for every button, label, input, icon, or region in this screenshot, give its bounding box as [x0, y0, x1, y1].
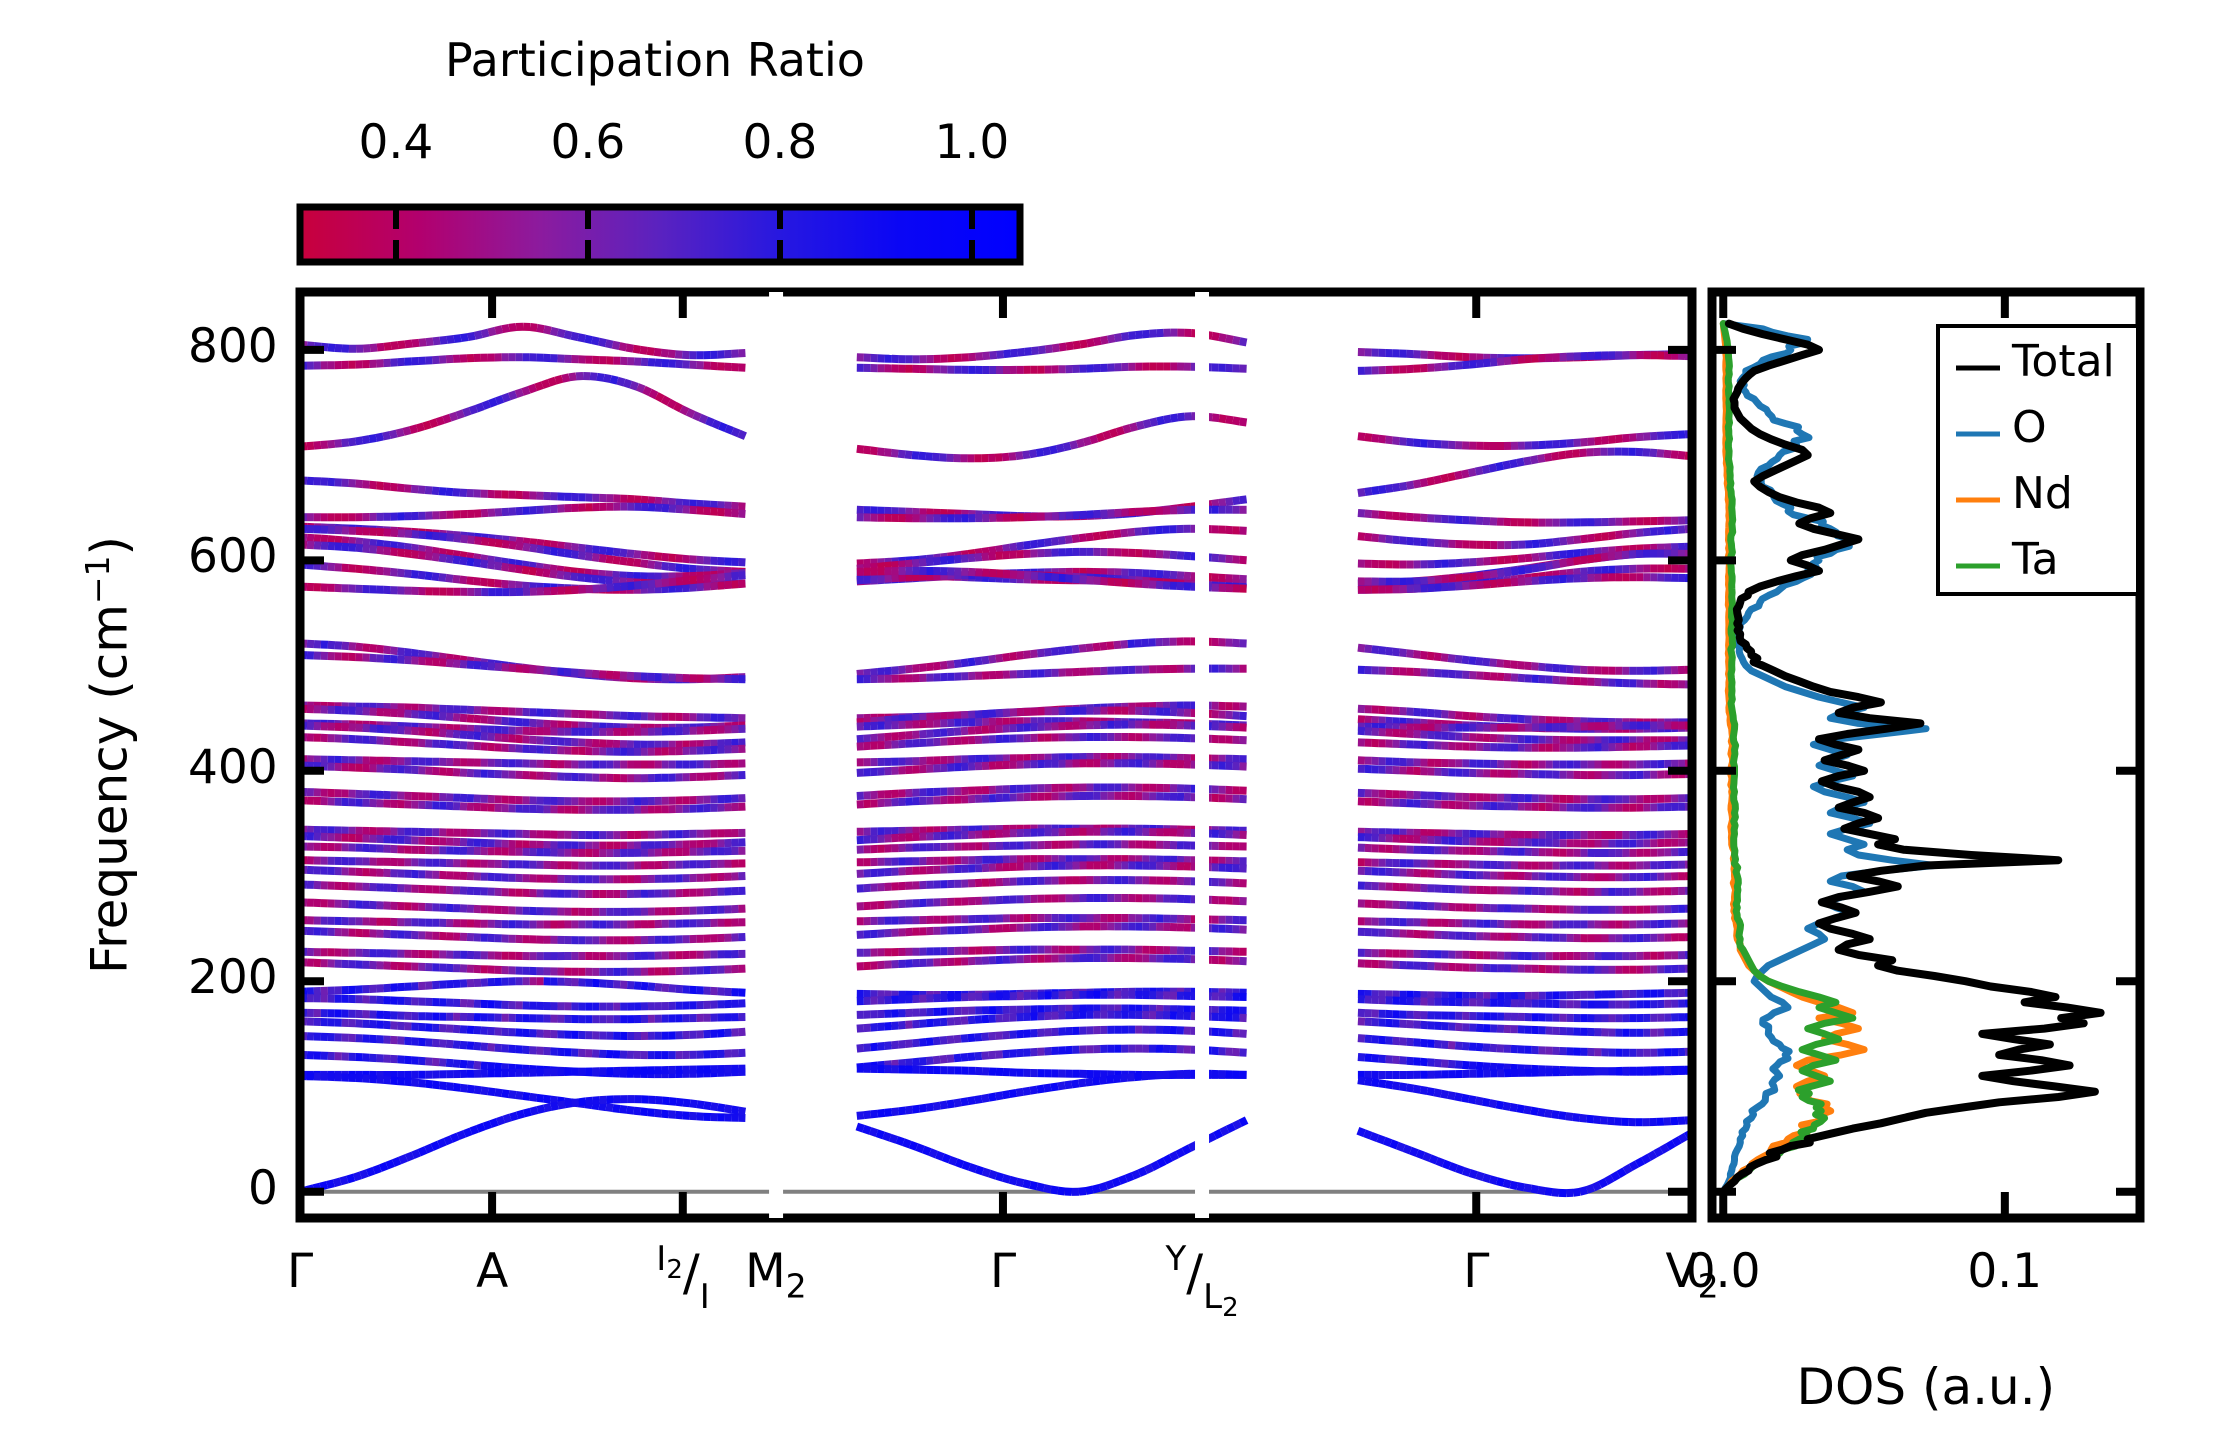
band-segment: [509, 394, 516, 396]
band-segment: [1469, 472, 1476, 474]
band-segment: [544, 550, 551, 551]
band-segment: [1504, 572, 1511, 573]
band-segment: [905, 454, 912, 455]
band-segment: [453, 658, 460, 659]
band-segment: [1518, 359, 1525, 360]
band-segment: [557, 671, 564, 672]
band-segment: [1072, 649, 1079, 650]
band-segment: [899, 736, 906, 737]
band-segment: [655, 501, 662, 502]
band-segment: [1476, 661, 1483, 662]
band-segment: [1609, 535, 1616, 536]
band-segment: [453, 734, 460, 735]
band-segment: [1476, 562, 1483, 563]
band-segment: [391, 533, 398, 534]
band-segment: [1093, 647, 1100, 648]
band-segment: [418, 555, 425, 556]
band-segment: [460, 560, 467, 561]
band-segment: [1560, 573, 1567, 574]
band-segment: [641, 555, 648, 556]
band-segment: [1532, 568, 1539, 569]
band-segment: [1434, 656, 1441, 657]
band-segment: [1414, 712, 1421, 713]
band-segment: [1435, 580, 1442, 581]
band-segment: [1066, 578, 1073, 579]
band-segment: [1553, 542, 1560, 543]
band-segment: [620, 561, 627, 562]
band-segment: [516, 546, 523, 547]
band-segment: [1108, 338, 1115, 339]
band-segment: [475, 540, 482, 541]
band-segment: [397, 432, 404, 434]
band-segment: [1233, 500, 1240, 501]
band-segment: [697, 510, 704, 511]
band-segment: [391, 741, 398, 742]
band-segment: [1420, 655, 1427, 656]
band-segment: [1128, 644, 1135, 645]
band-segment: [529, 586, 536, 587]
band-segment: [1045, 542, 1052, 543]
band-segment: [405, 553, 412, 554]
band-segment: [1573, 453, 1580, 454]
band-segment: [384, 551, 391, 552]
band-segment: [1393, 652, 1400, 653]
band-segment: [1532, 666, 1539, 667]
band-segment: [1219, 502, 1226, 503]
band-segment: [593, 588, 600, 589]
band-segment: [912, 455, 919, 456]
band-segment: [530, 740, 537, 741]
band-segment: [694, 415, 700, 418]
band-segment: [1122, 336, 1129, 337]
band-segment: [412, 343, 419, 344]
band-segment: [425, 661, 432, 662]
band-segment: [488, 542, 495, 543]
band-segment: [384, 346, 391, 347]
band-segment: [1084, 440, 1091, 442]
band-segment: [490, 401, 497, 403]
band-segment: [912, 718, 919, 719]
band-segment: [1124, 428, 1131, 430]
band-segment: [1087, 342, 1094, 343]
band-segment: [704, 578, 711, 579]
band-segment: [307, 565, 314, 566]
band-segment: [474, 719, 481, 720]
band-segment: [1010, 554, 1017, 555]
band-segment: [1379, 650, 1386, 651]
band-segment: [1518, 581, 1525, 582]
band-segment: [1240, 499, 1247, 500]
band-segment: [1400, 540, 1407, 541]
band-segment: [1615, 550, 1622, 551]
band-segment: [926, 562, 933, 563]
band-segment: [446, 733, 453, 734]
band-segment: [356, 440, 363, 441]
band-segment: [515, 563, 522, 564]
band-segment: [912, 735, 919, 736]
band-segment: [1091, 438, 1098, 440]
band-segment: [661, 353, 668, 354]
band-segment: [1560, 541, 1567, 542]
band-segment: [530, 327, 537, 328]
band-segment: [522, 586, 529, 587]
band-segment: [1491, 574, 1498, 575]
band-segment: [1546, 542, 1553, 543]
band-segment: [467, 561, 474, 562]
band-segment: [857, 722, 864, 723]
band-segment: [1038, 543, 1045, 544]
band-segment: [662, 508, 669, 509]
band-segment: [503, 397, 510, 399]
band-segment: [1043, 451, 1050, 452]
band-segment: [390, 487, 397, 488]
band-segment: [725, 576, 732, 577]
band-segment: [1539, 566, 1546, 567]
band-segment: [1622, 549, 1629, 550]
band-segment: [1386, 515, 1393, 516]
band-segment: [885, 720, 892, 721]
band-segment: [1448, 715, 1455, 716]
band-segment: [1455, 365, 1462, 366]
band-segment: [1240, 341, 1247, 342]
band-segment: [1580, 571, 1587, 572]
band-segment: [982, 660, 989, 661]
band-segment: [425, 556, 432, 557]
band-segment: [397, 488, 404, 489]
band-segment: [342, 442, 349, 443]
band-segment: [363, 439, 370, 440]
band-segment: [634, 585, 641, 586]
band-segment: [1003, 574, 1010, 575]
band-segment: [356, 647, 363, 648]
band-segment: [606, 580, 613, 581]
band-segment: [356, 569, 363, 570]
band-segment: [1044, 652, 1051, 653]
band-segment: [1511, 664, 1518, 665]
band-segment: [1650, 453, 1657, 454]
band-segment: [453, 579, 460, 580]
band-segment: [607, 587, 614, 588]
band-segment: [1142, 643, 1149, 644]
band-segment: [454, 338, 461, 339]
band-segment: [675, 354, 682, 355]
band-segment: [669, 508, 676, 509]
band-segment: [1622, 555, 1629, 556]
band-segment: [495, 543, 502, 544]
band-segment: [613, 560, 620, 561]
band-segment: [996, 658, 1003, 659]
band-segment: [376, 437, 383, 438]
band-segment: [655, 565, 662, 566]
band-segment: [446, 663, 453, 664]
band-segment: [1595, 551, 1602, 552]
band-segment: [418, 654, 425, 655]
band-segment: [1428, 542, 1435, 543]
band-segment: [1448, 658, 1455, 659]
band-segment: [592, 573, 599, 574]
band-segment: [439, 552, 446, 553]
band-segment: [1580, 559, 1587, 560]
band-segment: [307, 538, 314, 539]
band-segment: [1477, 576, 1484, 577]
band-segment: [432, 576, 439, 577]
band-segment: [1073, 579, 1080, 580]
band-segment: [1178, 417, 1185, 418]
band-segment: [592, 579, 599, 580]
band-segment: [1107, 645, 1114, 646]
band-segment: [1358, 648, 1365, 649]
band-segment: [1629, 533, 1636, 534]
band-segment: [1469, 585, 1476, 586]
band-segment: [1566, 454, 1573, 455]
band-segment: [1622, 438, 1629, 439]
band-segment: [1039, 349, 1046, 350]
band-segment: [926, 456, 933, 457]
band-segment: [425, 655, 432, 656]
band-segment: [1587, 558, 1594, 559]
band-segment: [530, 723, 537, 724]
band-segment: [641, 500, 648, 501]
band-segment: [1050, 449, 1057, 451]
band-segment: [983, 356, 990, 357]
band-segment: [891, 453, 898, 454]
band-segment: [947, 664, 954, 665]
band-segment: [1567, 443, 1574, 444]
band-segment: [618, 381, 625, 383]
band-segment: [1358, 536, 1365, 537]
band-segment: [1386, 488, 1393, 489]
band-segment: [1406, 442, 1413, 443]
band-segment: [1358, 492, 1365, 493]
band-segment: [1240, 560, 1247, 561]
band-segment: [558, 545, 565, 546]
band-segment: [648, 564, 655, 565]
band-segment: [1163, 574, 1170, 575]
band-segment: [704, 586, 711, 587]
band-segment: [961, 662, 968, 663]
band-segment: [975, 661, 982, 662]
band-segment: [556, 379, 563, 381]
band-segment: [1587, 571, 1594, 572]
band-segment: [690, 569, 697, 570]
band-segment: [1421, 542, 1428, 543]
band-segment: [502, 738, 509, 739]
band-segment: [1031, 653, 1038, 654]
band-segment: [446, 492, 453, 493]
band-segment: [1615, 438, 1622, 439]
band-segment: [681, 409, 687, 412]
band-segment: [585, 339, 592, 341]
band-segment: [1476, 363, 1483, 364]
band-segment: [516, 668, 523, 669]
band-segment: [342, 547, 349, 548]
band-segment: [1065, 650, 1072, 651]
band-segment: [1212, 503, 1219, 504]
band-segment: [335, 443, 342, 444]
band-segment: [606, 559, 613, 560]
band-segment: [1065, 539, 1072, 540]
band-segment: [1038, 576, 1045, 577]
band-segment: [1064, 446, 1071, 448]
band-segment: [1226, 501, 1233, 502]
figure-canvas: Participation Ratio0.40.60.81.0020040060…: [0, 0, 2222, 1455]
band-segment: [411, 574, 418, 575]
band-segment: [1657, 531, 1664, 532]
band-segment: [464, 411, 471, 413]
band-segment: [432, 491, 439, 492]
band-segment: [620, 346, 627, 347]
band-segment: [377, 485, 384, 486]
band-segment: [1567, 573, 1574, 574]
band-segment: [1594, 558, 1601, 559]
band-segment: [1483, 363, 1490, 364]
band-segment: [1588, 538, 1595, 539]
band-segment: [430, 422, 437, 424]
band-segment: [321, 445, 328, 446]
band-segment: [1379, 538, 1386, 539]
band-segment: [1483, 584, 1490, 585]
band-segment: [501, 561, 508, 562]
band-segment: [627, 553, 634, 554]
band-segment: [328, 347, 335, 348]
band-segment: [1149, 333, 1156, 334]
band-segment: [1121, 644, 1128, 645]
band-segment: [551, 551, 558, 552]
band-segment: [1212, 336, 1219, 337]
band-segment: [412, 534, 419, 535]
band-segment: [620, 553, 627, 554]
band-segment: [1407, 541, 1414, 542]
band-segment: [864, 738, 871, 739]
band-segment: [509, 545, 516, 546]
band-segment: [558, 332, 565, 334]
band-segment: [614, 587, 621, 588]
band-segment: [1546, 565, 1553, 566]
band-segment: [1059, 578, 1066, 579]
band-segment: [1441, 478, 1448, 480]
band-segment: [363, 548, 370, 549]
band-segment: [349, 483, 356, 484]
band-segment: [1100, 535, 1107, 536]
band-segment: [578, 555, 585, 556]
band-segment: [579, 589, 586, 590]
band-segment: [1470, 576, 1477, 577]
band-segment: [467, 556, 474, 557]
band-segment: [391, 650, 398, 651]
band-segment: [1002, 457, 1009, 458]
band-segment: [1469, 660, 1476, 661]
band-segment: [404, 430, 411, 432]
band-segment: [1037, 452, 1044, 453]
band-segment: [1427, 481, 1434, 482]
band-segment: [650, 393, 656, 396]
band-segment: [474, 562, 481, 563]
band-segment: [412, 554, 419, 555]
band-segment: [453, 554, 460, 555]
band-segment: [878, 671, 885, 672]
band-segment: [732, 513, 739, 514]
band-segment: [481, 666, 488, 667]
band-segment: [460, 718, 467, 719]
band-segment: [885, 671, 892, 672]
band-segment: [1101, 340, 1108, 341]
band-segment: [1393, 516, 1400, 517]
band-segment: [543, 567, 550, 568]
band-segment: [669, 558, 676, 559]
band-segment: [550, 574, 557, 575]
band-segment: [384, 571, 391, 572]
band-segment: [1671, 454, 1678, 455]
band-segment: [982, 551, 989, 552]
band-segment: [398, 651, 405, 652]
band-segment: [1490, 362, 1497, 363]
band-segment: [411, 731, 418, 732]
band-segment: [597, 377, 604, 378]
band-segment: [989, 550, 996, 551]
band-segment: [899, 564, 906, 565]
band-segment: [1051, 541, 1058, 542]
band-segment: [1365, 537, 1372, 538]
band-segment: [432, 557, 439, 558]
band-segment: [439, 716, 446, 717]
band-segment: [440, 536, 447, 537]
band-segment: [1372, 538, 1379, 539]
band-segment: [502, 328, 509, 329]
band-segment: [989, 556, 996, 557]
band-segment: [1372, 490, 1379, 491]
band-segment: [739, 434, 746, 437]
band-segment: [1503, 464, 1510, 465]
band-segment: [444, 418, 451, 420]
band-segment: [447, 339, 454, 340]
band-segment: [676, 558, 683, 559]
band-segment: [662, 501, 669, 502]
band-segment: [648, 584, 655, 585]
band-segment: [711, 586, 718, 587]
band-segment: [537, 543, 544, 544]
band-segment: [885, 566, 892, 567]
band-segment: [1010, 656, 1017, 657]
band-segment: [1058, 540, 1065, 541]
band-segment: [370, 348, 377, 349]
band-segment: [668, 354, 675, 355]
band-segment: [1052, 348, 1059, 349]
band-segment: [404, 714, 411, 715]
band-segment: [655, 556, 662, 557]
band-segment: [1114, 582, 1121, 583]
band-segment: [725, 512, 732, 513]
band-segment: [398, 659, 405, 660]
band-segment: [1017, 546, 1024, 547]
band-segment: [906, 669, 913, 670]
band-segment: [1525, 569, 1532, 570]
band-segment: [470, 409, 477, 411]
band-segment: [349, 646, 356, 647]
band-segment: [370, 485, 377, 486]
band-segment: [1018, 352, 1025, 353]
band-segment: [1469, 364, 1476, 365]
band-segment: [446, 559, 453, 560]
band-segment: [1365, 437, 1372, 438]
band-segment: [1567, 554, 1574, 555]
band-segment: [1003, 548, 1010, 549]
band-segment: [1664, 454, 1671, 455]
band-segment: [1400, 516, 1407, 517]
band-segment: [655, 583, 662, 584]
band-segment: [509, 738, 516, 739]
band-segment: [488, 559, 495, 560]
band-segment: [648, 500, 655, 501]
